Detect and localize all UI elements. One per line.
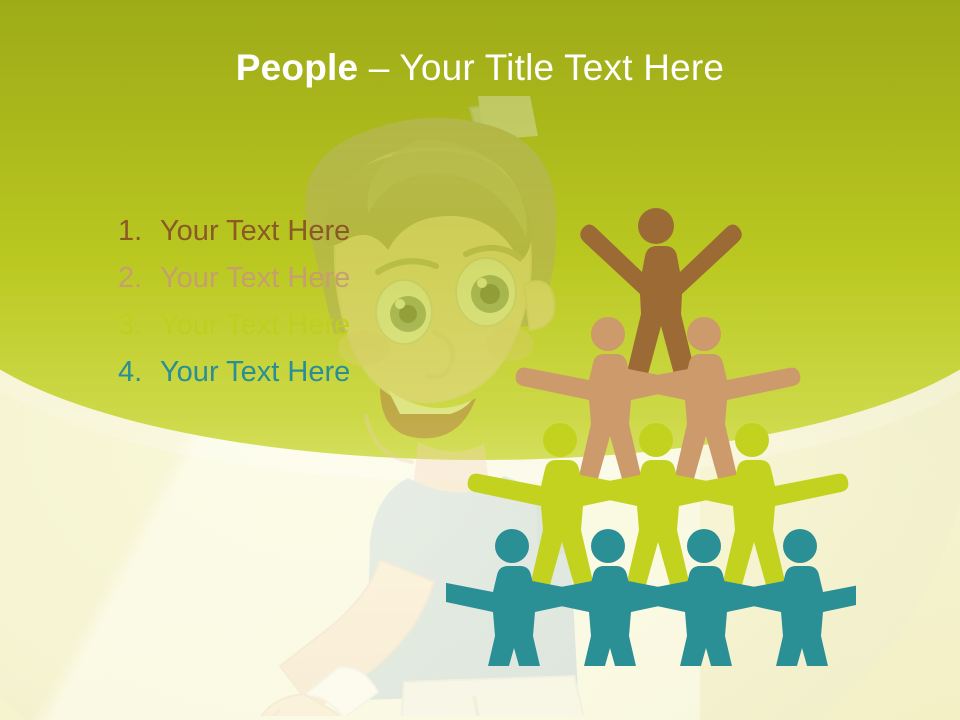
boy-shorts <box>396 676 590 716</box>
bullet-text-2: Your Text Here <box>160 255 448 302</box>
slide-title: People – Your Title Text Here <box>0 45 960 91</box>
bullet-list: 1. Your Text Here 2. Your Text Here 3. Y… <box>118 208 448 396</box>
bullet-number-1: 1. <box>118 208 160 255</box>
slide-canvas: 1. Your Text Here 2. Your Text Here 3. Y… <box>0 0 960 720</box>
bullet-number-3: 3. <box>118 302 160 349</box>
human-pyramid <box>446 196 856 666</box>
pyramid-figure-teal-4 <box>708 529 856 666</box>
bullet-text-1: Your Text Here <box>160 208 448 255</box>
bullet-item-2[interactable]: 2. Your Text Here <box>118 255 448 302</box>
bullet-text-3: Your Text Here <box>160 302 448 349</box>
bullet-item-1[interactable]: 1. Your Text Here <box>118 208 448 255</box>
title-strong: People <box>236 47 359 88</box>
bullet-item-4[interactable]: 4. Your Text Here <box>118 349 448 396</box>
bullet-item-3[interactable]: 3. Your Text Here <box>118 302 448 349</box>
bullet-number-2: 2. <box>118 255 160 302</box>
title-rest: – Your Title Text Here <box>358 47 724 88</box>
bullet-number-4: 4. <box>118 349 160 396</box>
bullet-text-4: Your Text Here <box>160 349 448 396</box>
